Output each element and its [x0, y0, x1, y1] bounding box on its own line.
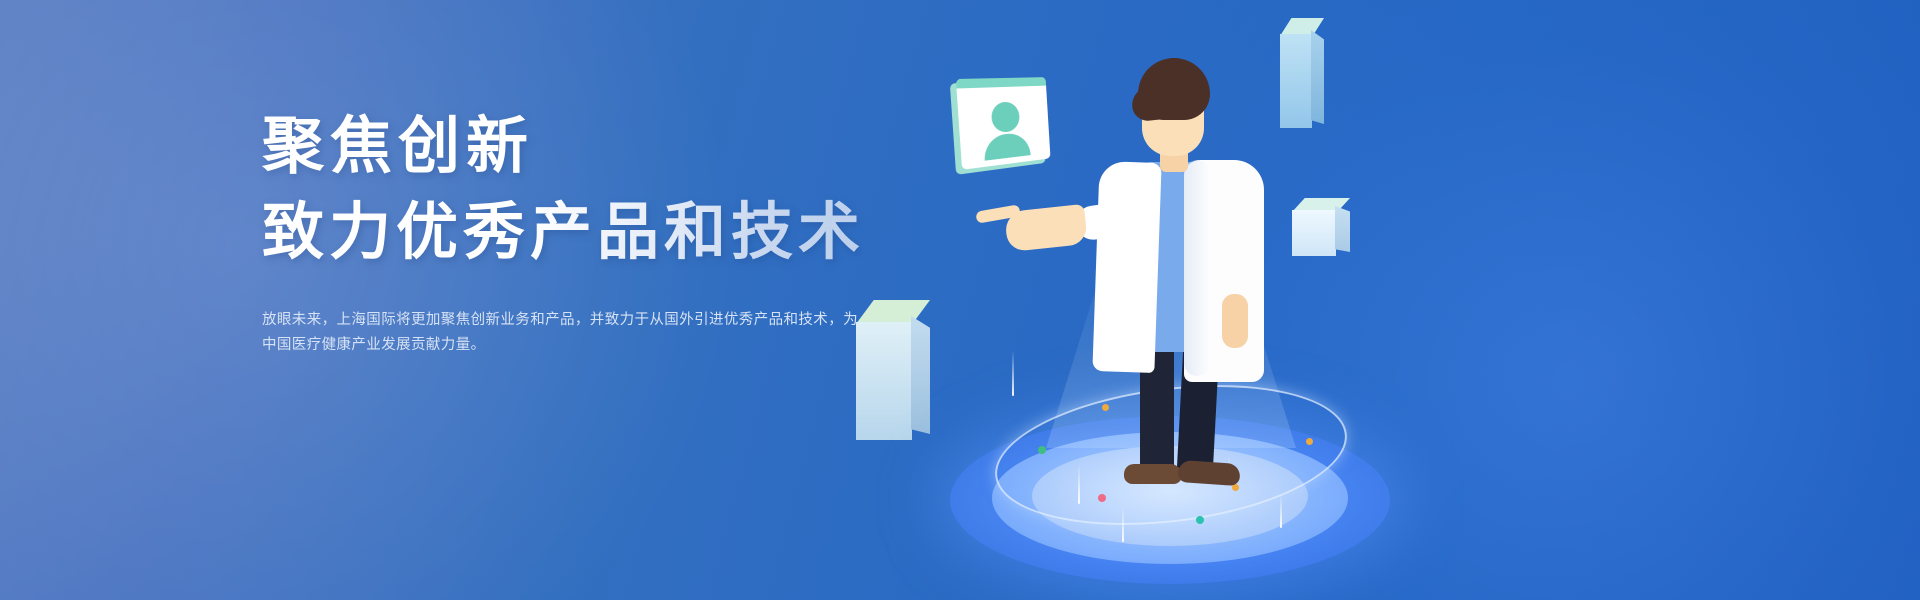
box-side-face — [911, 316, 930, 434]
card-header-bar — [956, 77, 1046, 88]
box-front-face — [856, 322, 912, 440]
hero-banner: 聚焦创新 致力优秀产品和技术 放眼未来，上海国际将更加聚焦创新业务和产品，并致力… — [0, 0, 1920, 600]
doctor-character — [1072, 58, 1312, 458]
particle-dot — [1196, 516, 1204, 524]
headline-line-2: 致力优秀产品和技术 — [262, 190, 882, 276]
doctor-coat-left — [1092, 161, 1161, 373]
avatar-head — [991, 101, 1021, 133]
banner-subcopy: 放眼未来，上海国际将更加聚焦创新业务和产品，并致力于从国外引进优秀产品和技术，为… — [262, 308, 862, 358]
doctor-shoe-left — [1124, 464, 1182, 484]
doctor-coat-shading — [1184, 160, 1210, 376]
particle-dot — [1098, 494, 1106, 502]
floating-box-bottom-left-icon — [856, 300, 930, 440]
banner-copy: 聚焦创新 致力优秀产品和技术 放眼未来，上海国际将更加聚焦创新业务和产品，并致力… — [262, 104, 882, 358]
doctor-shoe-right — [1177, 460, 1240, 486]
avatar-body — [983, 132, 1031, 161]
user-profile-card-icon — [956, 77, 1051, 170]
box-side-face — [1335, 206, 1350, 252]
light-streak — [1280, 494, 1282, 528]
light-streak — [1078, 464, 1080, 504]
particle-dot — [1038, 446, 1046, 454]
light-streak — [1122, 506, 1124, 542]
hero-illustration — [840, 0, 1920, 600]
box-side-face — [1311, 30, 1324, 124]
doctor-hand-right — [1222, 294, 1248, 348]
light-streak — [1012, 350, 1014, 396]
headline-line-1: 聚焦创新 — [262, 104, 882, 190]
box-top-face — [856, 300, 930, 324]
